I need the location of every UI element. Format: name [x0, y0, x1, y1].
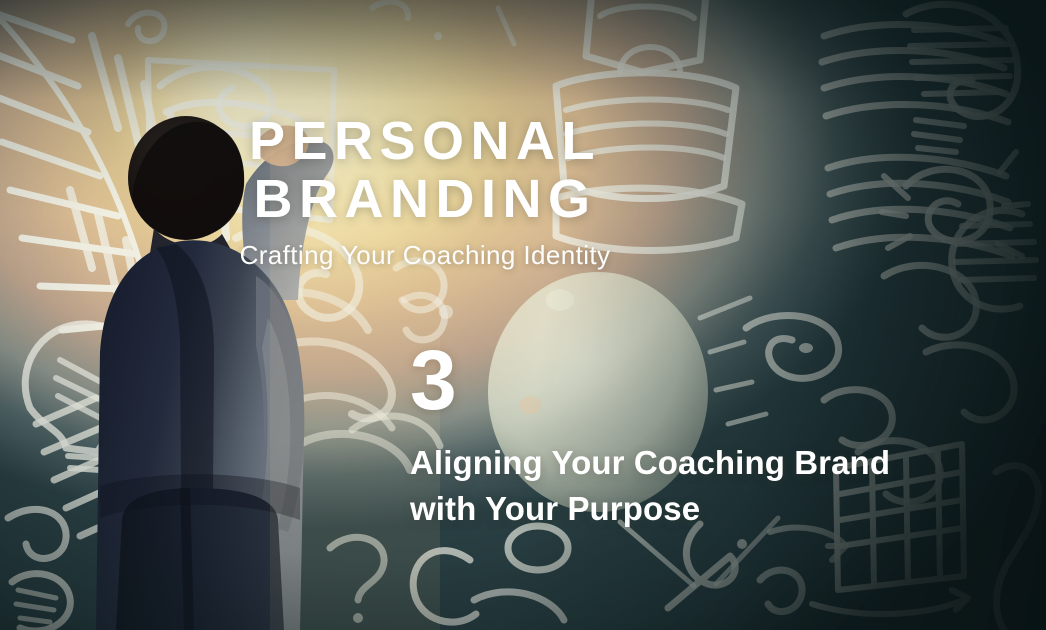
slide-body-block: 3 Aligning Your Coaching Brand with Your…: [410, 336, 930, 532]
slide-title-block: PERSONAL BRANDING Crafting Your Coaching…: [0, 112, 1046, 272]
slide-headline-line-1: Aligning Your Coaching Brand: [410, 440, 930, 486]
slide-subtitle: Crafting Your Coaching Identity: [0, 238, 850, 272]
slide-title-line-1: PERSONAL: [0, 112, 850, 170]
slide-headline-line-2: with Your Purpose: [410, 486, 930, 532]
slide-content: PERSONAL BRANDING Crafting Your Coaching…: [0, 0, 1046, 630]
step-number: 3: [410, 336, 930, 424]
slide-title-line-2: BRANDING: [0, 170, 850, 228]
slide-headline: Aligning Your Coaching Brand with Your P…: [410, 440, 930, 532]
presentation-slide: PERSONAL BRANDING Crafting Your Coaching…: [0, 0, 1046, 630]
